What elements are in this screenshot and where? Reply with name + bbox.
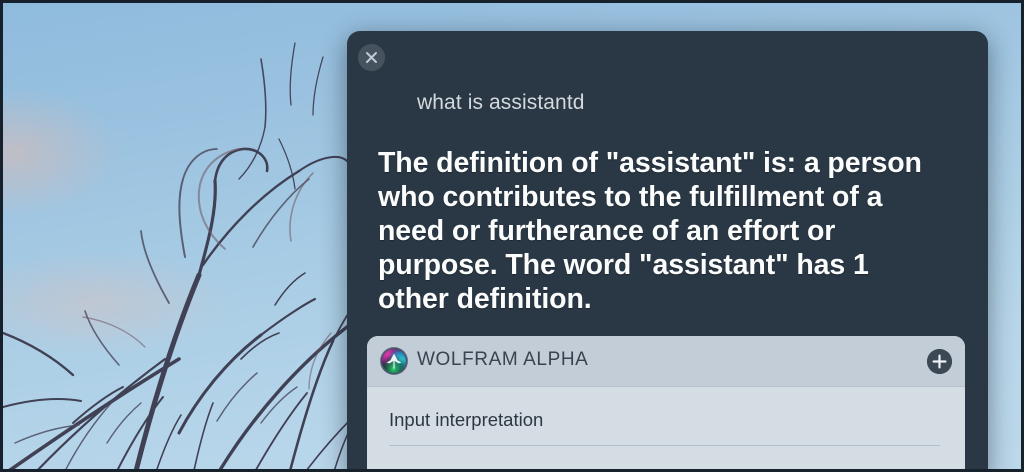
plus-glyph — [927, 349, 952, 374]
input-interpretation-label: Input interpretation — [389, 409, 543, 431]
wolfram-alpha-card-body: Input interpretation — [367, 387, 965, 472]
screenshot-root: what is assistantd The definition of "as… — [0, 0, 1024, 472]
wolfram-alpha-card-header: WOLFRAM ALPHA — [367, 336, 965, 387]
wolfram-alpha-logo-glyph — [381, 348, 407, 374]
siri-query-text: what is assistantd — [417, 91, 585, 115]
close-glyph — [358, 44, 385, 71]
plus-icon[interactable] — [927, 349, 952, 374]
wolfram-alpha-card[interactable]: WOLFRAM ALPHA Input interpretation — [367, 336, 965, 472]
siri-panel: what is assistantd The definition of "as… — [347, 31, 988, 472]
wolfram-alpha-logo-icon — [381, 348, 407, 374]
close-icon[interactable] — [358, 44, 385, 71]
wolfram-alpha-title: WOLFRAM ALPHA — [417, 349, 588, 371]
section-divider — [389, 445, 940, 446]
siri-answer-text: The definition of "assistant" is: a pers… — [378, 146, 923, 316]
